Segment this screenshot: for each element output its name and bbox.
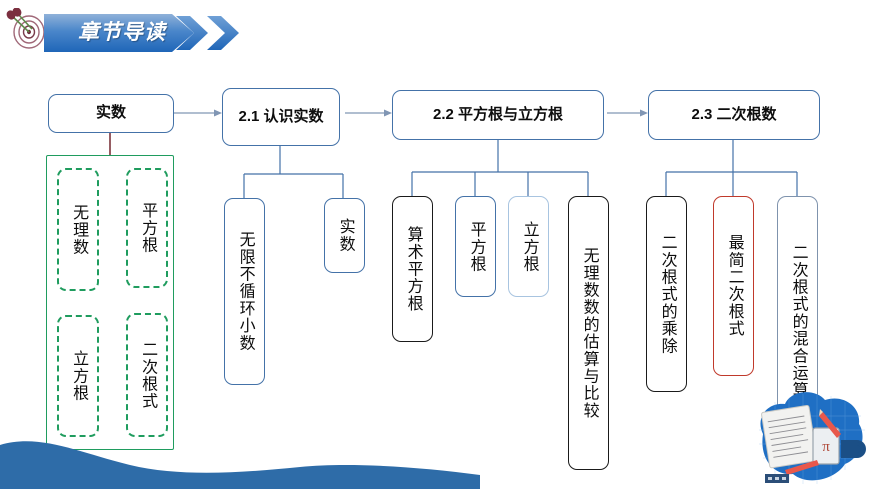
study-desk-illustration: π xyxy=(745,382,870,489)
root-node-real-numbers[interactable]: 实数 xyxy=(48,94,174,133)
leaf-label: 算术平方根 xyxy=(404,226,420,312)
leaf-cube-root[interactable]: 立方根 xyxy=(508,196,549,297)
leaf-label: 二次根式的乘除 xyxy=(658,234,674,354)
leaf-label: 无限不循环小数 xyxy=(236,231,252,351)
group-item-irrational-number[interactable]: 无理数 xyxy=(57,168,99,291)
leaf-real-numbers[interactable]: 实数 xyxy=(324,198,365,273)
illustration-pi-symbol: π xyxy=(822,439,830,455)
section-header-label: 2.2 平方根与立方根 xyxy=(433,106,563,124)
section-header-2-2[interactable]: 2.2 平方根与立方根 xyxy=(392,90,604,140)
leaf-label: 二次根式的混合运算 xyxy=(789,244,805,399)
leaf-simplest-quadratic-radical[interactable]: 最简二次根式 xyxy=(713,196,754,376)
banner-arrow-shape xyxy=(44,14,259,52)
section-header-label: 2.1 认识实数 xyxy=(238,108,323,126)
leaf-arithmetic-square-root[interactable]: 算术平方根 xyxy=(392,196,433,342)
leaf-label: 无理数数的估算与比较 xyxy=(580,247,596,419)
leaf-label: 立方根 xyxy=(520,221,536,273)
group-item-label: 立方根 xyxy=(70,350,86,402)
leaf-label: 实数 xyxy=(336,218,352,252)
leaf-infinite-nonrepeating-decimal[interactable]: 无限不循环小数 xyxy=(224,198,265,385)
section-header-2-1[interactable]: 2.1 认识实数 xyxy=(222,88,340,146)
group-item-cube-root[interactable]: 立方根 xyxy=(57,315,99,437)
blue-wave-footer xyxy=(0,427,480,489)
root-node-label: 实数 xyxy=(96,104,126,122)
section-header-2-3[interactable]: 2.3 二次根数 xyxy=(648,90,820,140)
header-banner: 章节导读 xyxy=(0,4,300,60)
leaf-label: 最简二次根式 xyxy=(725,234,741,337)
leaf-radical-multiplication-division[interactable]: 二次根式的乘除 xyxy=(646,196,687,392)
leaf-label: 平方根 xyxy=(467,221,483,273)
group-item-square-root[interactable]: 平方根 xyxy=(126,168,168,288)
leaf-square-root[interactable]: 平方根 xyxy=(455,196,496,297)
group-item-label: 二次根式 xyxy=(139,341,155,410)
group-item-label: 无理数 xyxy=(70,204,86,256)
group-item-label: 平方根 xyxy=(139,202,155,254)
group-item-quadratic-radical[interactable]: 二次根式 xyxy=(126,313,168,437)
slide-canvas: 章节导读 xyxy=(0,0,870,489)
section-header-label: 2.3 二次根数 xyxy=(691,106,776,124)
leaf-irrational-estimation-comparison[interactable]: 无理数数的估算与比较 xyxy=(568,196,609,470)
